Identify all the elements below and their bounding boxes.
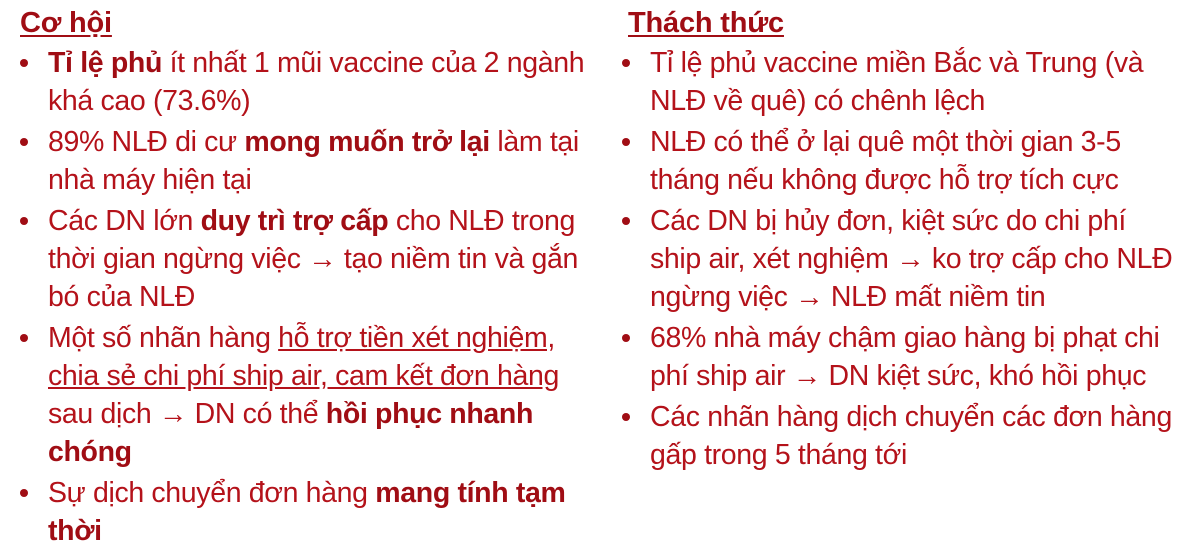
text-run: Các nhãn hàng dịch chuyển các đơn hàng g… — [650, 401, 1172, 471]
text-run: Tỉ lệ phủ — [48, 47, 162, 79]
text-run: 89% NLĐ di cư — [48, 126, 244, 158]
text-run: Tỉ lệ phủ vaccine miền Bắc và Trung (và … — [650, 47, 1143, 117]
column-opportunities: Cơ hội Tỉ lệ phủ ít nhất 1 mũi vaccine c… — [0, 0, 600, 501]
list-item: Tỉ lệ phủ ít nhất 1 mũi vaccine của 2 ng… — [12, 44, 586, 120]
bullet-list-opportunities: Tỉ lệ phủ ít nhất 1 mũi vaccine của 2 ng… — [12, 44, 586, 550]
text-run: duy trì trợ cấp — [201, 205, 389, 237]
list-item: NLĐ có thể ở lại quê một thời gian 3-5 t… — [620, 123, 1182, 199]
list-item: Tỉ lệ phủ vaccine miền Bắc và Trung (và … — [620, 44, 1182, 120]
list-item: Các DN bị hủy đơn, kiệt sức do chi phí s… — [620, 202, 1182, 316]
text-run: NLĐ có thể ở lại quê một thời gian 3-5 t… — [650, 126, 1121, 196]
text-run: mong muốn trở lại — [244, 126, 489, 158]
text-run: Sự dịch chuyển đơn hàng — [48, 477, 375, 509]
list-item: 68% nhà máy chậm giao hàng bị phạt chi p… — [620, 319, 1182, 395]
column-heading-opportunities: Cơ hội — [20, 6, 112, 40]
slide-canvas: Cơ hội Tỉ lệ phủ ít nhất 1 mũi vaccine c… — [0, 0, 1200, 501]
bullet-list-challenges: Tỉ lệ phủ vaccine miền Bắc và Trung (và … — [620, 44, 1182, 474]
list-item: 89% NLĐ di cư mong muốn trở lại làm tại … — [12, 123, 586, 199]
list-item: Sự dịch chuyển đơn hàng mang tính tạm th… — [12, 474, 586, 550]
list-item: Một số nhãn hàng hỗ trợ tiền xét nghiệm,… — [12, 319, 586, 471]
text-run: Các DN lớn — [48, 205, 201, 237]
text-run: Một số nhãn hàng — [48, 322, 278, 354]
list-item: Các DN lớn duy trì trợ cấp cho NLĐ trong… — [12, 202, 586, 316]
text-run: sau dịch → DN có thể — [48, 398, 326, 430]
text-run: Các DN bị hủy đơn, kiệt sức do chi phí s… — [650, 205, 1172, 313]
text-run: 68% nhà máy chậm giao hàng bị phạt chi p… — [650, 322, 1160, 392]
column-heading-challenges: Thách thức — [628, 6, 784, 40]
list-item: Các nhãn hàng dịch chuyển các đơn hàng g… — [620, 398, 1182, 474]
